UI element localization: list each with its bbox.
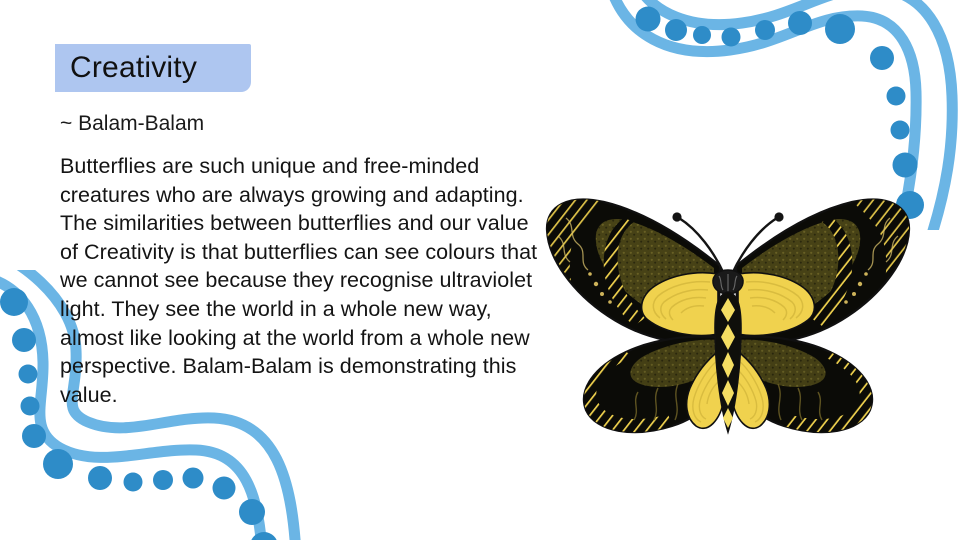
page-title: Creativity [70, 48, 197, 88]
left-hindwing [584, 337, 724, 433]
wave-dot [825, 14, 855, 44]
wave-dot [153, 470, 173, 490]
slide-canvas: Creativity ~ Balam-Balam Butterflies are… [0, 0, 960, 540]
wave-dot [0, 288, 28, 316]
right-forewing [736, 200, 909, 343]
wave-dot [124, 473, 143, 492]
wave-dot [887, 87, 906, 106]
wave-dot [43, 449, 73, 479]
wave-dot [250, 532, 278, 540]
wave-dot [239, 499, 265, 525]
antenna-club-left [672, 212, 681, 221]
butterfly-head [713, 270, 743, 294]
wave-dot [183, 468, 204, 489]
wave-dot [893, 153, 918, 178]
wave-dot [693, 26, 711, 44]
wave-dot [636, 7, 661, 32]
left-forewing [547, 200, 720, 343]
wave-dot [22, 424, 46, 448]
antenna-club-right [774, 212, 783, 221]
wave-dot [891, 121, 910, 140]
wave-dot [88, 466, 112, 490]
subtitle-attribution: ~ Balam-Balam [60, 110, 204, 138]
body-paragraph: Butterflies are such unique and free-min… [60, 152, 545, 409]
wave-dot [213, 477, 236, 500]
butterfly-illustration [538, 188, 918, 450]
wave-dot [665, 19, 687, 41]
wave-dot [21, 397, 40, 416]
wave-dot [12, 328, 36, 352]
wave-dot [870, 46, 894, 70]
right-hindwing [732, 337, 872, 433]
wave-dot [755, 20, 775, 40]
wave-dot [722, 28, 741, 47]
wave-dot [19, 365, 38, 384]
wave-dot [788, 11, 812, 35]
